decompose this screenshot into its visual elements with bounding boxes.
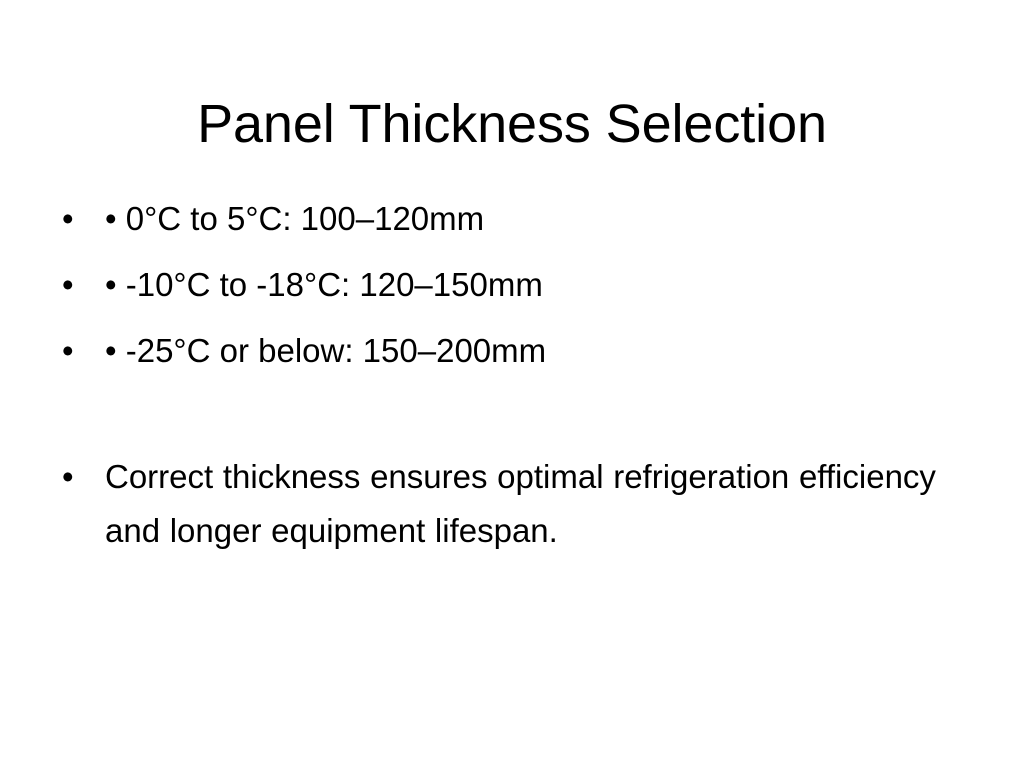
list-item-label: • -10°C to -18°C: 120–150mm <box>105 266 543 303</box>
bullet-disc-icon: • <box>62 252 82 318</box>
slide: Panel Thickness Selection • • 0°C to 5°C… <box>0 0 1024 768</box>
slide-body: • • 0°C to 5°C: 100–120mm • • -10°C to -… <box>58 186 978 558</box>
summary-label: Correct thickness ensures optimal refrig… <box>105 450 963 558</box>
page-title: Panel Thickness Selection <box>0 94 1024 154</box>
list-item: • • -10°C to -18°C: 120–150mm <box>58 252 978 318</box>
bullet-disc-icon: • <box>62 186 82 252</box>
bullet-disc-icon: • <box>62 318 82 384</box>
list-item: • • 0°C to 5°C: 100–120mm <box>58 186 978 252</box>
list-item: • • -25°C or below: 150–200mm <box>58 318 978 384</box>
summary-list-item: • Correct thickness ensures optimal refr… <box>58 450 985 558</box>
list-spacer <box>58 384 978 450</box>
list-item-label: • 0°C to 5°C: 100–120mm <box>105 200 484 237</box>
thickness-bullet-list: • • 0°C to 5°C: 100–120mm • • -10°C to -… <box>58 186 978 558</box>
list-item-label: • -25°C or below: 150–200mm <box>105 332 546 369</box>
bullet-disc-icon: • <box>62 450 82 504</box>
